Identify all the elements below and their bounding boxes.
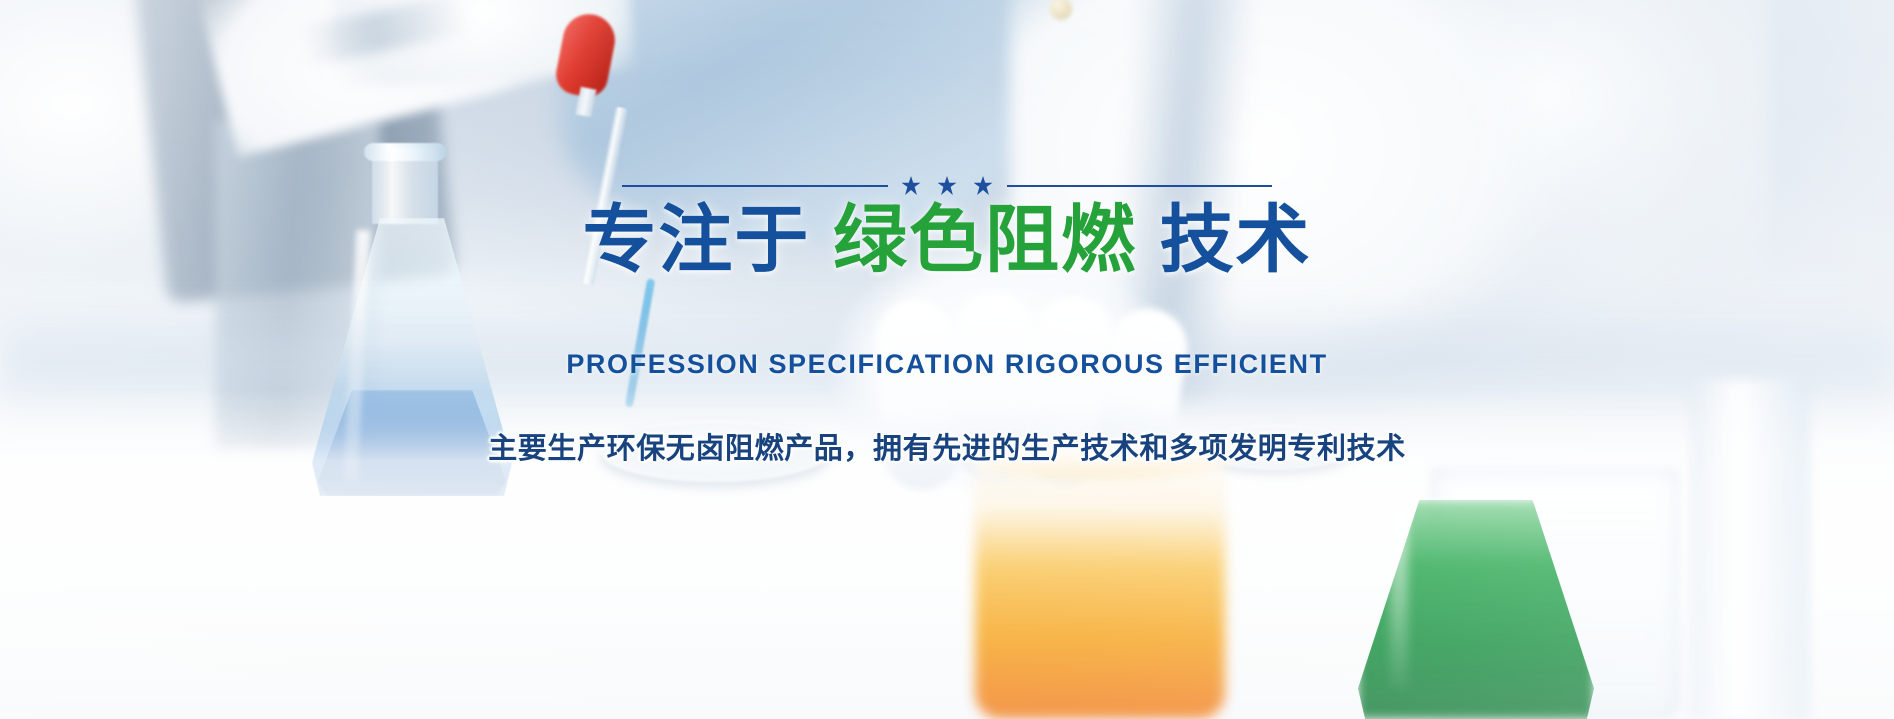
tagline-chinese: 主要生产环保无卤阻燃产品，拥有先进的生产技术和多项发明专利技术 (488, 425, 1406, 467)
star-icon (938, 176, 957, 195)
subtitle-english: PROFESSION SPECIFICATION RIGOROUS EFFICI… (566, 349, 1327, 380)
divider-rule-left (622, 185, 888, 187)
beaker-orange-liquid (975, 448, 1225, 719)
flask-neck (372, 148, 438, 224)
headline-segment-primary: 专注于 (582, 198, 810, 281)
star-group (902, 176, 993, 195)
headline-segment-tertiary: 技术 (1160, 198, 1312, 281)
graduated-cylinder (1690, 380, 1810, 719)
divider (622, 176, 1272, 195)
divider-rule-right (1007, 185, 1273, 187)
star-icon (902, 176, 921, 195)
headline-segment-accent: 绿色阻燃 (810, 198, 1159, 281)
flask-green-highlight (1390, 508, 1408, 688)
star-icon (974, 176, 993, 195)
page-title: 专注于 绿色阻燃 技术 (582, 201, 1311, 279)
hero-banner: 专注于 绿色阻燃 技术 PROFESSION SPECIFICATION RIG… (0, 0, 1894, 719)
